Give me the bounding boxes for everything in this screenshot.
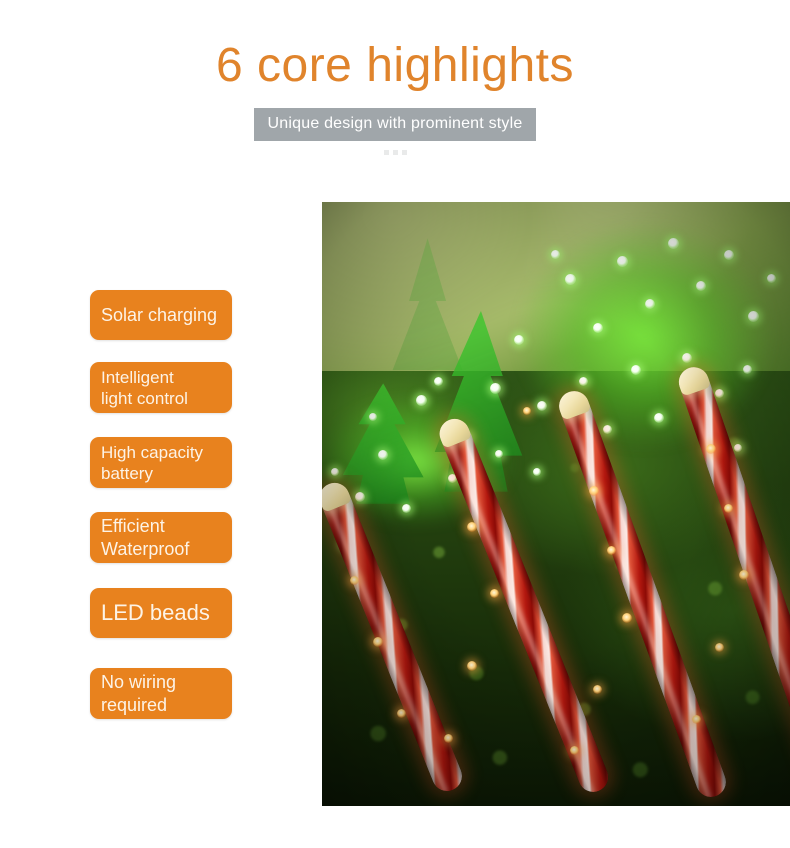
feature-badge-label: No wiringrequired (101, 671, 221, 717)
feature-badge-intelligent-light-control[interactable]: Intelligentlight control (90, 362, 232, 413)
page-subtitle: Unique design with prominent style (254, 108, 537, 141)
product-feature-page: 6 core highlights Unique design with pro… (0, 0, 790, 848)
subtitle-banner: Unique design with prominent style (0, 108, 790, 141)
page-title: 6 core highlights (0, 38, 790, 94)
feature-badge-label: LED beads (101, 600, 221, 626)
product-photo (322, 202, 790, 806)
dot-3 (402, 150, 407, 155)
feature-badge-high-capacity-battery[interactable]: High capacitybattery (90, 437, 232, 488)
product-photo-scene (322, 202, 790, 806)
decorative-dots (0, 150, 790, 155)
feature-badge-label: Intelligentlight control (101, 367, 221, 409)
feature-badge-label: Solar charging (101, 304, 221, 326)
feature-badge-efficient-waterproof[interactable]: EfficientWaterproof (90, 512, 232, 563)
dot-1 (384, 150, 389, 155)
photo-vignette (322, 202, 790, 806)
feature-badge-led-beads[interactable]: LED beads (90, 588, 232, 638)
feature-badge-label: High capacitybattery (101, 442, 221, 484)
dot-2 (393, 150, 398, 155)
feature-badge-label: EfficientWaterproof (101, 515, 221, 561)
feature-badge-solar-charging[interactable]: Solar charging (90, 290, 232, 340)
feature-badge-no-wiring-required[interactable]: No wiringrequired (90, 668, 232, 719)
